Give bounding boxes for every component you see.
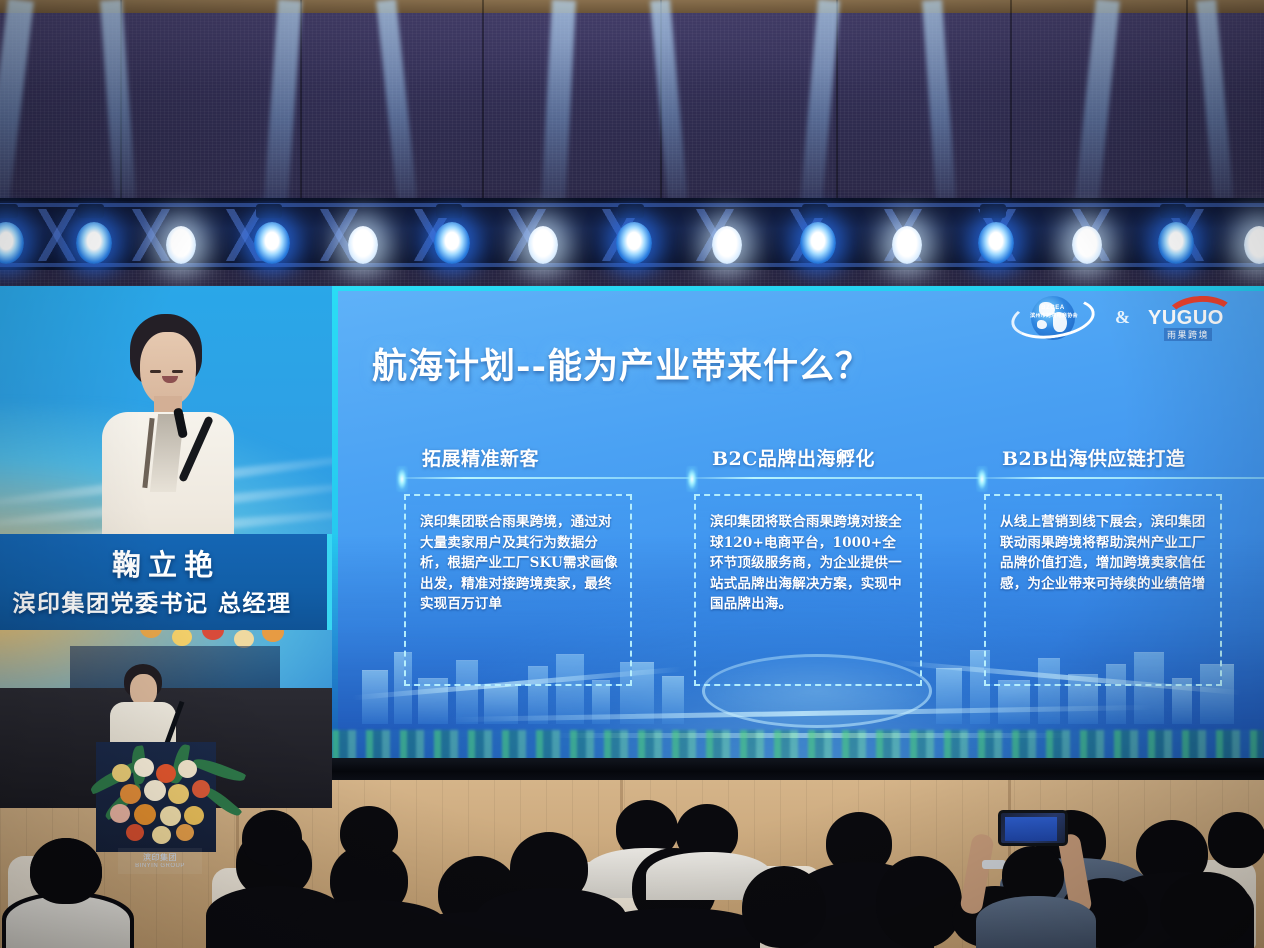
slide-logo-row: BZCEA 滨州市跨境电商协会 & YUGUO 雨果跨境 — [1005, 294, 1256, 340]
speaker-name: 鞠立艳 — [0, 542, 332, 584]
slide-columns: 拓展精准新客 滨印集团联合雨果跨境，通过对大量卖家用户及其行为数据分析，根据产业… — [394, 444, 1264, 734]
audience-shoulders — [976, 896, 1096, 948]
audience-shoulders — [594, 908, 760, 948]
stage-light-white — [166, 226, 196, 264]
audience-head — [1160, 872, 1252, 948]
audience-head — [742, 866, 826, 948]
audience-head — [876, 856, 962, 948]
conference-photo: BZCEA 滨州市跨境电商协会 & YUGUO 雨果跨境 航海计划--能为产业带… — [0, 0, 1264, 948]
logo-separator: & — [1115, 307, 1130, 328]
stage-flower-arrangement — [96, 750, 236, 845]
sparkle-icon — [686, 466, 698, 492]
column-body-text: 滨印集团联合雨果跨境，通过对大量卖家用户及其行为数据分析，根据产业工厂SKU需求… — [420, 512, 618, 615]
stage-light-white — [528, 226, 558, 264]
lower-third-edge — [327, 534, 332, 630]
column-textbox: 滨印集团联合雨果跨境，通过对大量卖家用户及其行为数据分析，根据产业工厂SKU需求… — [404, 494, 632, 686]
slide-title: 航海计划--能为产业带来什么？ — [372, 338, 871, 389]
stage-light-blue — [254, 222, 290, 264]
column-divider — [980, 477, 1264, 479]
slide-column-1: 拓展精准新客 滨印集团联合雨果跨境，通过对大量卖家用户及其行为数据分析，根据产业… — [394, 444, 684, 734]
stage-light-white — [892, 226, 922, 264]
column-textbox: 从线上营销到线下展会，滨印集团联动雨果跨境将帮助滨州产业工厂品牌价值打造，增加跨… — [984, 494, 1222, 686]
audience-head — [242, 810, 302, 866]
column-divider — [400, 477, 690, 479]
speaker-role: 滨印集团党委书记 总经理 — [0, 584, 318, 618]
bzcea-globe-logo: BZCEA 滨州市跨境电商协会 — [1005, 294, 1101, 340]
stage-light-blue — [76, 222, 112, 264]
sparkle-icon — [396, 466, 408, 492]
audience-head — [340, 806, 398, 860]
speaker-lower-third: 鞠立艳 滨印集团党委书记 总经理 — [0, 534, 332, 630]
yuguo-wordmark: YUGUO — [1148, 307, 1260, 330]
stage-light-white — [1072, 226, 1102, 264]
column-textbox: 滨印集团将联合雨果跨境对接全球120+电商平台，1000+全环节顶级服务商，为企… — [694, 494, 922, 686]
stage-light-white — [712, 226, 742, 264]
slide-top-accent — [332, 286, 1264, 291]
yuguo-cn-name: 雨果跨境 — [1164, 328, 1212, 341]
lamp-housing — [78, 204, 104, 218]
podium-plate-line2: BINYIN GROUP — [118, 863, 202, 869]
stage-light-white — [348, 226, 378, 264]
slide-column-2: B2C品牌出海孵化 滨印集团将联合雨果跨境对接全球120+电商平台，1000+全… — [684, 444, 974, 734]
column-heading: 拓展精准新客 — [422, 444, 539, 471]
phone-screen — [1005, 817, 1057, 841]
column-heading: B2C品牌出海孵化 — [712, 444, 875, 471]
presentation-slide: BZCEA 滨州市跨境电商协会 & YUGUO 雨果跨境 航海计划--能为产业带… — [332, 286, 1264, 764]
sparkle-icon — [976, 466, 988, 492]
stage-light-blue — [800, 222, 836, 264]
lamp-housing — [436, 204, 462, 218]
audience-member-filming — [960, 800, 1110, 948]
audience-head — [30, 838, 102, 904]
stage-light-blue — [434, 222, 470, 264]
yuguo-logo: YUGUO 雨果跨境 — [1144, 295, 1256, 339]
stage-light-blue — [616, 222, 652, 264]
column-heading: B2B出海供应链打造 — [1002, 444, 1185, 471]
stage-light-blue — [1158, 222, 1194, 264]
column-body-text: 从线上营销到线下展会，滨印集团联动雨果跨境将帮助滨州产业工厂品牌价值打造，增加跨… — [1000, 512, 1208, 594]
lamp-housing — [1160, 204, 1186, 218]
column-body-text: 滨印集团将联合雨果跨境对接全球120+电商平台，1000+全环节顶级服务商，为企… — [710, 512, 908, 615]
lamp-housing — [256, 204, 282, 218]
ceiling-wood-trim — [0, 0, 1264, 13]
lamp-housing — [0, 204, 18, 218]
lamp-housing — [618, 204, 644, 218]
arm — [959, 833, 995, 916]
podium-plate-line1: 滨印集团 — [118, 852, 202, 863]
column-divider — [690, 477, 980, 479]
podium-plate: 滨印集团 BINYIN GROUP — [118, 848, 202, 874]
slide-column-3: B2B出海供应链打造 从线上营销到线下展会，滨印集团联动雨果跨境将帮助滨州产业工… — [974, 444, 1264, 734]
audience-head — [1208, 812, 1264, 868]
smartphone[interactable] — [998, 810, 1068, 846]
speaker-face — [140, 332, 196, 406]
bzcea-name: 滨州市跨境电商协会 — [1011, 312, 1097, 319]
lamp-housing — [980, 204, 1006, 218]
stage-light-blue — [978, 222, 1014, 264]
lamp-housing — [802, 204, 828, 218]
bzcea-abbr: BZCEA — [1033, 305, 1073, 311]
